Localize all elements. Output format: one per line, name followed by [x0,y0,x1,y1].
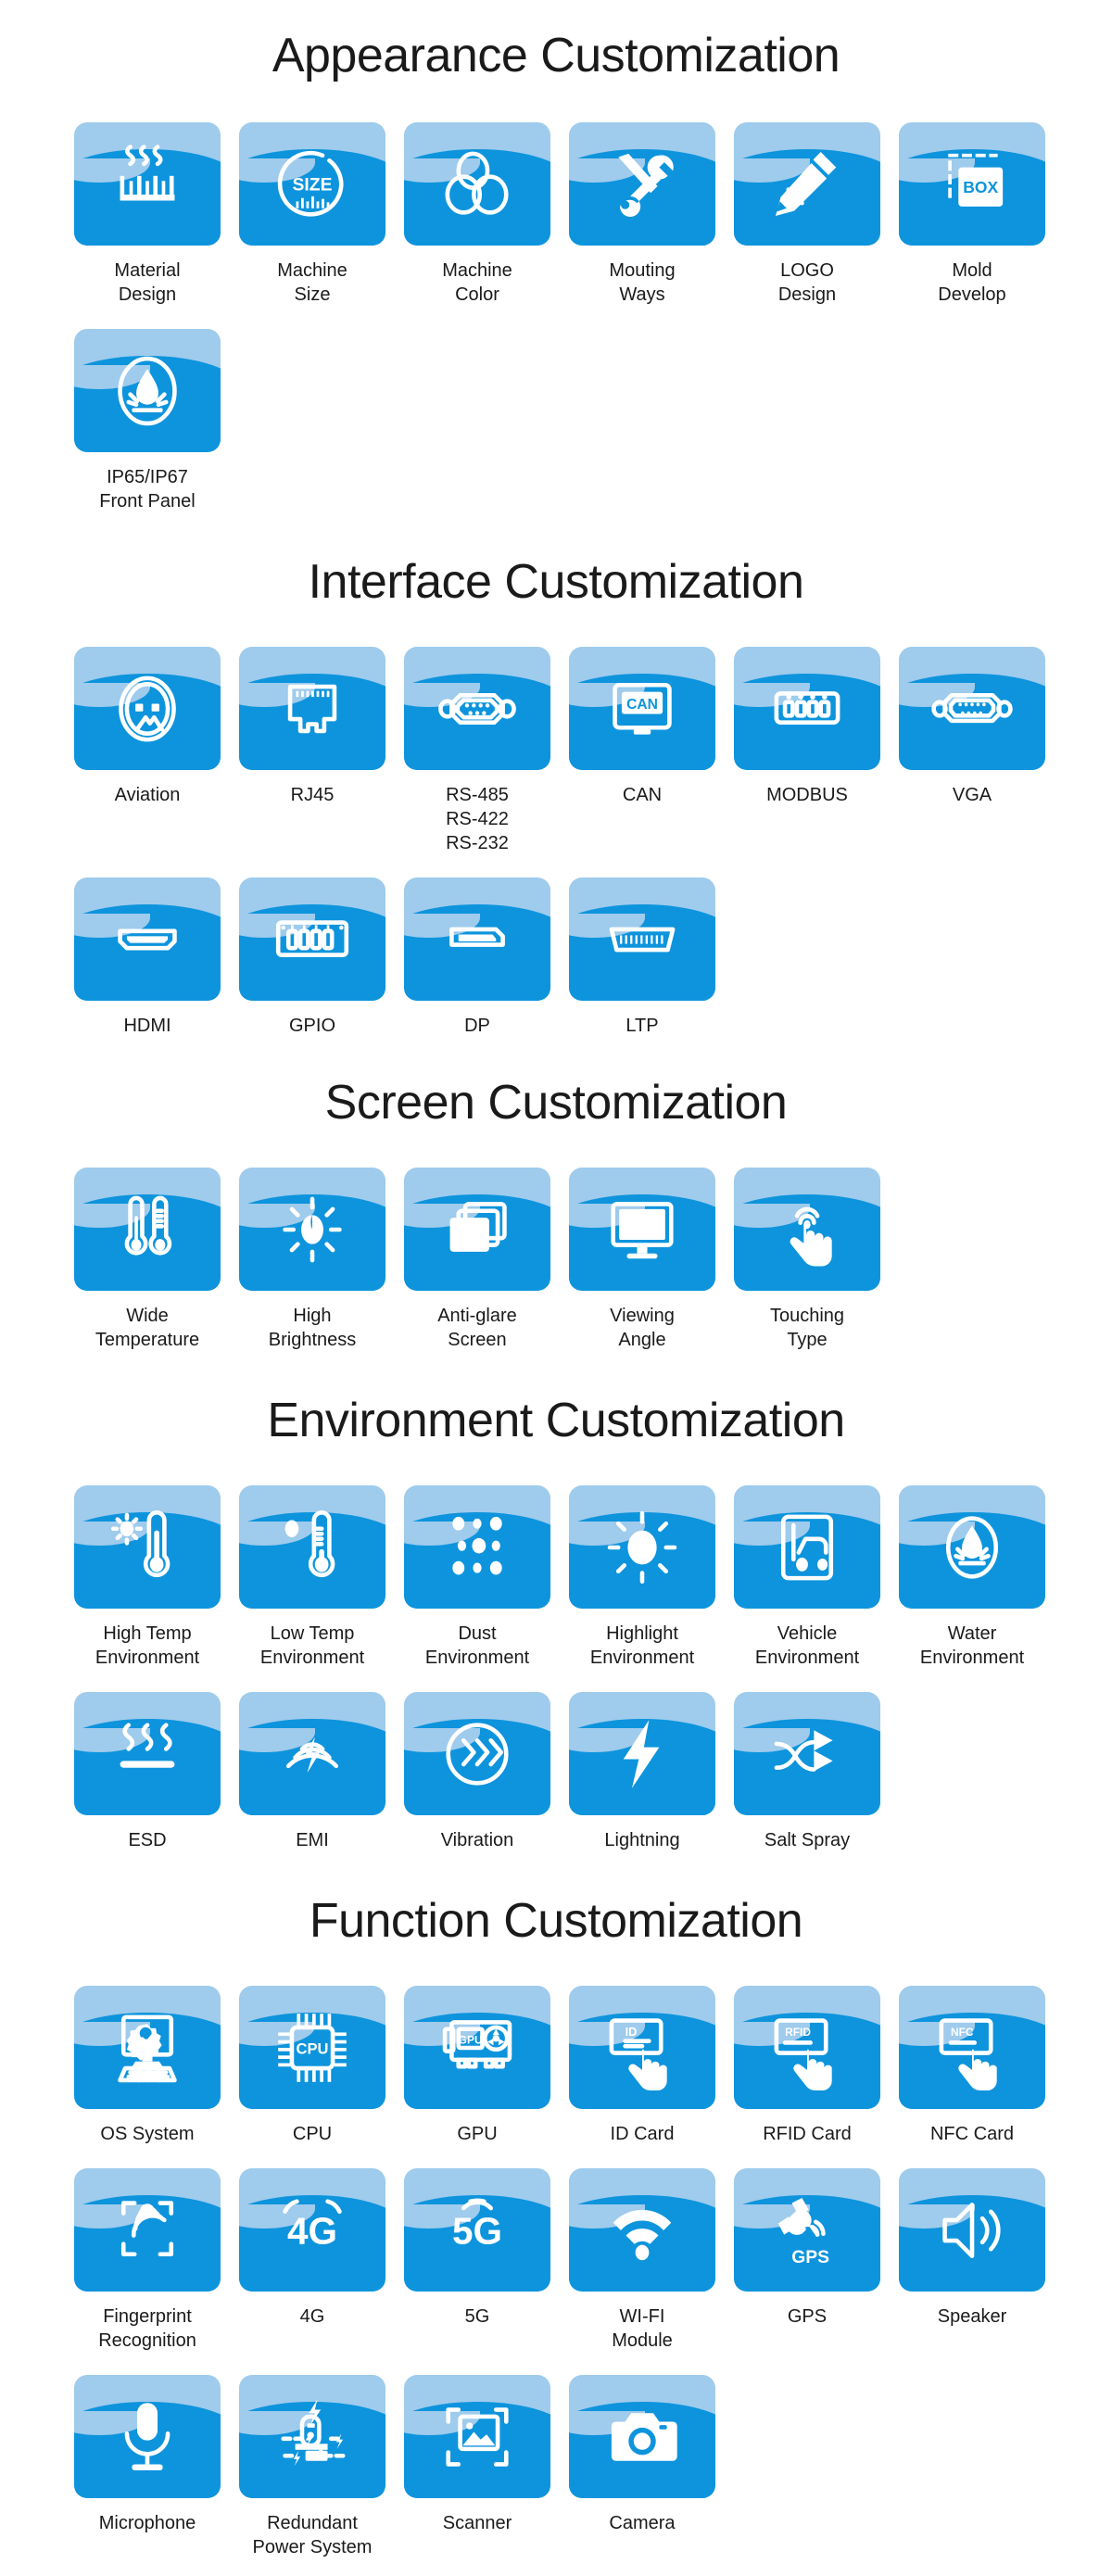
ip65-ip67-front-panel-icon [74,329,221,452]
feature-tile [404,1692,550,1815]
feature-label: Salt Spray [764,1828,850,1852]
feature-cell-touching-type[interactable]: Touching Type [725,1168,890,1352]
feature-cell-cpu[interactable]: CPU CPU [230,1986,395,2146]
machine-color-icon [404,122,550,246]
feature-cell-water-environment[interactable]: Water Environment [890,1485,1055,1670]
feature-label: High Temp Environment [95,1622,199,1670]
feature-tile [74,1692,221,1815]
microphone-icon [74,2375,221,2498]
feature-label: Speaker [938,2305,1007,2329]
feature-cell-vibration[interactable]: Vibration [395,1692,560,1852]
feature-cell-ltp-port[interactable]: LTP [560,878,725,1038]
feature-tile [239,647,385,770]
feature-cell-serial-port[interactable]: RS-485 RS-422 RS-232 [395,647,560,855]
feature-tile [569,1168,715,1291]
aviation-connector-icon [74,647,221,770]
feature-tile [239,1485,385,1609]
camera-icon [569,2375,715,2498]
feature-cell-gpio[interactable]: GPIO [230,878,395,1038]
section-title-interface: Interface Customization [0,554,1112,610]
vehicle-environment-icon [734,1485,880,1609]
feature-tile [74,647,221,770]
feature-tile [569,878,715,1001]
vibration-icon [404,1692,550,1815]
feature-cell-material-design[interactable]: Material Design [65,122,230,307]
feature-label: CAN [623,783,662,807]
feature-cell-gps[interactable]: GPSGPS [725,2168,890,2353]
feature-tile [404,122,550,246]
feature-label: Fingerprint Recognition [98,2305,196,2353]
feature-cell-mold-develop[interactable]: BOXMold Develop [890,122,1055,307]
section-title-function: Function Customization [0,1893,1112,1949]
feature-label: HDMI [123,1014,171,1038]
feature-cell-logo-design[interactable]: LOGO Design [725,122,890,307]
feature-cell-machine-color[interactable]: Machine Color [395,122,560,307]
feature-tile [239,878,385,1001]
feature-tile: ID [569,1986,715,2109]
svg-text:SIZE: SIZE [293,175,333,195]
feature-label: RS-485 RS-422 RS-232 [446,783,509,855]
gps-icon: GPS [734,2168,880,2292]
feature-label: Microphone [99,2511,196,2535]
feature-cell-machine-size[interactable]: SIZE Machine Size [230,122,395,307]
feature-label: Touching Type [770,1304,844,1352]
feature-tile [569,2168,715,2292]
feature-cell-can-bus[interactable]: CAN CAN [560,647,725,855]
feature-tile: 4G [239,2168,385,2292]
feature-cell-os-system[interactable]: OS System [65,1986,230,2146]
svg-text:ID: ID [625,2025,638,2039]
water-environment-icon [899,1485,1045,1609]
feature-label: 4G [300,2305,325,2329]
feature-tile [734,122,880,246]
feature-label: CPU [293,2122,332,2146]
feature-label: High Brightness [269,1304,357,1352]
feature-label: Vehicle Environment [755,1622,859,1670]
feature-cell-camera[interactable]: Camera [560,2375,725,2559]
feature-tile [734,1692,880,1815]
feature-tile [404,878,550,1001]
feature-cell-id-card[interactable]: ID ID Card [560,1986,725,2146]
feature-cell-modbus[interactable]: MODBUS [725,647,890,855]
can-bus-icon: CAN [569,647,715,770]
feature-tile [74,1986,221,2109]
feature-tile: GPU [404,1986,550,2109]
feature-cell-vga-port[interactable]: VGA [890,647,1055,855]
svg-text:5G: 5G [452,2209,502,2252]
feature-tile [239,1692,385,1815]
feature-label: Machine Color [442,259,512,307]
feature-row: High Temp Environment Low Temp Environme… [0,1485,1112,1670]
feature-label: Viewing Angle [610,1304,675,1352]
cpu-icon: CPU [239,1986,385,2109]
5g-icon: 5G [404,2168,550,2292]
feature-cell-aviation-connector[interactable]: Aviation [65,647,230,855]
feature-label: Vibration [441,1828,514,1852]
lightning-icon [569,1692,715,1815]
feature-cell-gpu[interactable]: GPU GPU [395,1986,560,2146]
feature-cell-viewing-angle[interactable]: Viewing Angle [560,1168,725,1352]
feature-cell-hdmi-port[interactable]: HDMI [65,878,230,1038]
feature-label: Redundant Power System [253,2511,373,2559]
dust-environment-icon [404,1485,550,1609]
feature-tile [404,1485,550,1609]
section-title-environment: Environment Customization [0,1393,1112,1448]
feature-tile [74,2168,221,2292]
feature-tile [734,647,880,770]
svg-text:CPU: CPU [297,2039,329,2057]
feature-tile [74,1168,221,1291]
feature-label: LTP [625,1014,658,1038]
feature-tile: RFID [734,1986,880,2109]
feature-cell-redundant-power-system[interactable]: Redundant Power System [230,2375,395,2559]
feature-cell-nfc-card[interactable]: NFC NFC Card [890,1986,1055,2146]
feature-tile: CPU [239,1986,385,2109]
speaker-icon [899,2168,1045,2292]
feature-tile [899,647,1045,770]
feature-row: Aviation RJ45 RS-485 RS-422 RS-232 CAN C… [0,647,1112,855]
feature-row: Material Design SIZE Machine Size Machin… [0,122,1112,307]
feature-cell-rfid-card[interactable]: RFID RFID Card [725,1986,890,2146]
feature-tile [74,1485,221,1609]
feature-cell-high-brightness[interactable]: High Brightness [230,1168,395,1352]
feature-cell-ip65-ip67-front-panel[interactable]: IP65/IP67 Front Panel [65,329,230,513]
feature-label: Anti-glare Screen [437,1304,517,1352]
feature-tile [569,122,715,246]
feature-label: IP65/IP67 Front Panel [99,465,195,513]
infographic-page: Appearance Customization Material Design… [0,0,1112,2576]
feature-cell-scanner[interactable]: Scanner [395,2375,560,2559]
feature-label: LOGO Design [778,259,836,307]
feature-label: Scanner [443,2511,512,2535]
mold-develop-icon: BOX [899,122,1045,246]
scanner-icon [404,2375,550,2498]
section-title-appearance: Appearance Customization [0,28,1112,83]
feature-cell-rj45-port[interactable]: RJ45 [230,647,395,855]
feature-cell-low-temp-environment[interactable]: Low Temp Environment [230,1485,395,1670]
4g-icon: 4G [239,2168,385,2292]
feature-label: NFC Card [930,2122,1014,2146]
high-brightness-icon [239,1168,385,1291]
highlight-environment-icon [569,1485,715,1609]
feature-cell-vehicle-environment[interactable]: Vehicle Environment [725,1485,890,1670]
dp-port-icon [404,878,550,1001]
feature-label: MODBUS [766,783,848,807]
svg-text:BOX: BOX [963,178,998,196]
feature-cell-dust-environment[interactable]: Dust Environment [395,1485,560,1670]
feature-tile [239,1168,385,1291]
svg-text:GPU: GPU [459,2033,483,2046]
feature-cell-mouting-ways[interactable]: Mouting Ways [560,122,725,307]
feature-cell-emi[interactable]: EMI [230,1692,395,1852]
serial-port-icon [404,647,550,770]
feature-cell-dp-port[interactable]: DP [395,878,560,1038]
feature-label: RFID Card [763,2122,852,2146]
feature-tile [569,1485,715,1609]
feature-cell-fingerprint-recognition[interactable]: Fingerprint Recognition [65,2168,230,2353]
modbus-icon [734,647,880,770]
feature-label: Material Design [114,259,180,307]
feature-row: Microphone Redundant Power System Scanne… [0,2375,1112,2559]
feature-cell-highlight-environment[interactable]: Highlight Environment [560,1485,725,1670]
feature-row: OS System CPU CPU GPU GPU ID ID Card RFI… [0,1986,1112,2146]
feature-label: WI-FI Module [612,2305,673,2353]
feature-label: Water Environment [920,1622,1024,1670]
feature-label: GPS [788,2305,827,2329]
svg-text:CAN: CAN [626,697,658,713]
feature-cell-4g[interactable]: 4G 4G [230,2168,395,2353]
feature-tile [569,1692,715,1815]
feature-tile [734,1485,880,1609]
feature-tile [734,1168,880,1291]
emi-icon [239,1692,385,1815]
feature-label: Lightning [604,1828,679,1852]
wide-temperature-icon [74,1168,221,1291]
feature-tile [74,122,221,246]
high-temp-environment-icon [74,1485,221,1609]
feature-cell-microphone[interactable]: Microphone [65,2375,230,2559]
touching-type-icon [734,1168,880,1291]
feature-label: GPIO [289,1014,335,1038]
ltp-port-icon [569,878,715,1001]
feature-tile [569,2375,715,2498]
feature-row: ESD EMI VibrationLightning Salt Spray [0,1692,1112,1852]
feature-label: DP [464,1014,490,1038]
feature-cell-esd[interactable]: ESD [65,1692,230,1852]
feature-label: Mouting Ways [609,259,675,307]
feature-tile [239,2375,385,2498]
feature-label: Highlight Environment [590,1622,694,1670]
feature-tile [74,329,221,452]
feature-row: HDMI GPIO DP LTP [0,878,1112,1038]
gpio-icon [239,878,385,1001]
feature-tile: CAN [569,647,715,770]
material-design-icon [74,122,221,246]
redundant-power-system-icon [239,2375,385,2498]
feature-label: GPU [457,2122,497,2146]
feature-tile: NFC [899,1986,1045,2109]
rfid-card-icon: RFID [734,1986,880,2109]
feature-tile: BOX [899,122,1045,246]
feature-cell-salt-spray[interactable]: Salt Spray [725,1692,890,1852]
section-environment: Environment Customization High Temp Envi… [0,1393,1112,1852]
feature-label: Camera [609,2511,675,2535]
feature-label: ID Card [611,2122,675,2146]
feature-cell-anti-glare-screen[interactable]: Anti-glare Screen [395,1168,560,1352]
feature-cell-speaker[interactable]: Speaker [890,2168,1055,2353]
feature-label: ESD [128,1828,166,1852]
svg-text:NFC: NFC [951,2026,974,2039]
low-temp-environment-icon [239,1485,385,1609]
feature-tile [404,2375,550,2498]
feature-row: Wide Temperature High Brightness Anti-gl… [0,1168,1112,1352]
feature-tile [899,1485,1045,1609]
rj45-port-icon [239,647,385,770]
fingerprint-recognition-icon [74,2168,221,2292]
feature-label: Machine Size [277,259,347,307]
feature-label: VGA [953,783,992,807]
feature-cell-high-temp-environment[interactable]: High Temp Environment [65,1485,230,1670]
nfc-card-icon: NFC [899,1986,1045,2109]
feature-tile [74,2375,221,2498]
salt-spray-icon [734,1692,880,1815]
svg-text:GPS: GPS [791,2247,829,2267]
viewing-angle-icon [569,1168,715,1291]
feature-label: Wide Temperature [95,1304,199,1352]
svg-text:4G: 4G [287,2209,337,2252]
feature-label: Low Temp Environment [260,1622,364,1670]
feature-tile [404,1168,550,1291]
esd-icon [74,1692,221,1815]
feature-cell-5g[interactable]: 5G 5G [395,2168,560,2353]
feature-label: OS System [100,2122,194,2146]
feature-tile: 5G [404,2168,550,2292]
logo-design-icon [734,122,880,246]
feature-cell-wide-temperature[interactable]: Wide Temperature [65,1168,230,1352]
feature-label: 5G [465,2305,490,2329]
vga-port-icon [899,647,1045,770]
hdmi-port-icon [74,878,221,1001]
mouting-ways-icon [569,122,715,246]
gpu-icon: GPU [404,1986,550,2109]
feature-label: RJ45 [291,783,335,807]
feature-label: EMI [296,1828,329,1852]
feature-tile [74,878,221,1001]
section-title-screen: Screen Customization [0,1075,1112,1130]
svg-text:RFID: RFID [785,2026,811,2039]
section-screen: Screen Customization Wide Temperature Hi… [0,1075,1112,1352]
feature-row: Fingerprint Recognition4G 4G5G 5G WI-FI … [0,2168,1112,2353]
feature-cell-lightning[interactable]: Lightning [560,1692,725,1852]
feature-tile: SIZE [239,122,385,246]
feature-row: IP65/IP67 Front Panel [0,329,1112,513]
section-function: Function Customization OS System CPU CPU… [0,1893,1112,2559]
feature-label: Mold Develop [938,259,1005,307]
feature-label: Aviation [115,783,181,807]
feature-tile: GPS [734,2168,880,2292]
feature-tile [899,2168,1045,2292]
section-interface: Interface Customization Aviation RJ45 RS… [0,554,1112,1038]
feature-cell-wifi-module[interactable]: WI-FI Module [560,2168,725,2353]
machine-size-icon: SIZE [239,122,385,246]
os-system-icon [74,1986,221,2109]
anti-glare-screen-icon [404,1168,550,1291]
feature-tile [404,647,550,770]
section-appearance: Appearance Customization Material Design… [0,28,1112,513]
feature-label: Dust Environment [425,1622,529,1670]
id-card-icon: ID [569,1986,715,2109]
wifi-module-icon [569,2168,715,2292]
